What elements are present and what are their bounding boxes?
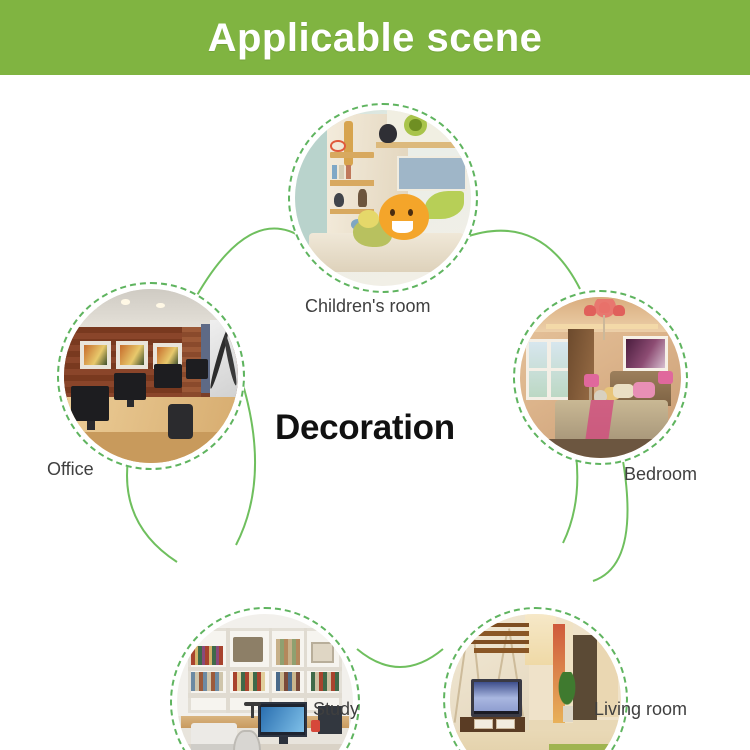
- arc-study-office: [127, 460, 177, 562]
- label-bedroom: Bedroom: [624, 465, 697, 483]
- arc-children-bedroom: [463, 231, 580, 289]
- study-circle[interactable]: [170, 607, 360, 750]
- scene-diagram: Children's room: [0, 75, 750, 750]
- arc-bedroom-living: [593, 461, 628, 581]
- header-banner: Applicable scene: [0, 0, 750, 75]
- center-title: Decoration: [275, 410, 455, 445]
- node-childrens-room[interactable]: [288, 103, 478, 293]
- study-photo: [177, 614, 353, 750]
- office-circle[interactable]: [57, 282, 245, 470]
- label-office: Office: [47, 460, 94, 478]
- childrens-room-photo: [295, 110, 471, 286]
- arc-living-study: [357, 649, 443, 667]
- node-bedroom[interactable]: [513, 290, 688, 465]
- childrens-room-circle[interactable]: [288, 103, 478, 293]
- node-study[interactable]: [170, 607, 360, 750]
- living-room-circle[interactable]: [443, 607, 628, 750]
- applicable-scene-infographic: Applicable scene: [0, 0, 750, 750]
- label-childrens-room: Children's room: [305, 297, 430, 315]
- office-photo: [64, 289, 238, 463]
- node-living-room[interactable]: [443, 607, 628, 750]
- bedroom-circle[interactable]: [513, 290, 688, 465]
- node-office[interactable]: [57, 282, 245, 470]
- label-study: Study: [313, 700, 359, 718]
- bedroom-photo: [520, 297, 681, 458]
- living-room-photo: [450, 614, 621, 750]
- label-living-room: Living room: [594, 700, 687, 718]
- page-title: Applicable scene: [208, 18, 543, 58]
